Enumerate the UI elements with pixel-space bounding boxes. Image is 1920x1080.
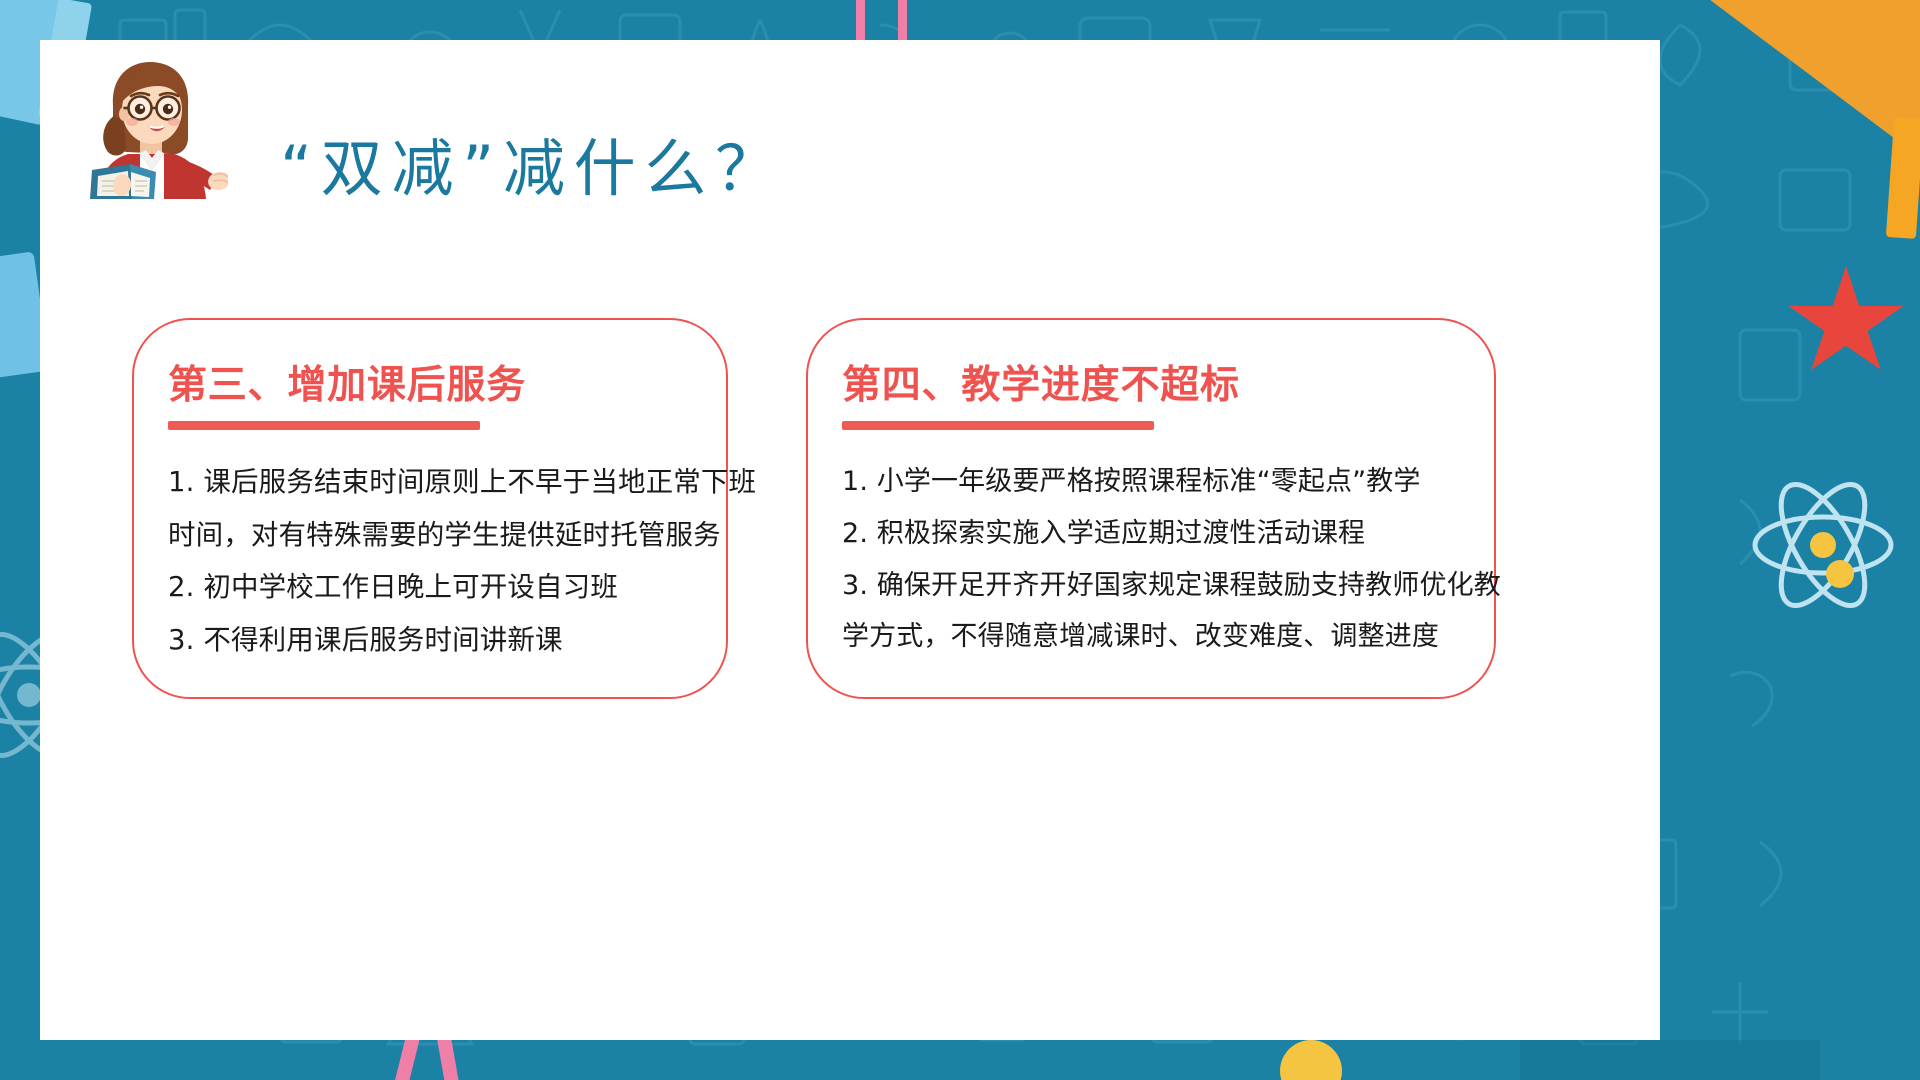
card-fourth-teaching-progress: 第四、教学进度不超标 1. 小学一年级要严格按照课程标准“零起点”教学 2. 积… [806,318,1496,699]
card-title: 第四、教学进度不超标 [842,364,1460,407]
atom-icon [1748,470,1898,620]
card-title: 第三、增加课后服务 [168,364,692,407]
card-line: 1. 小学一年级要严格按照课程标准“零起点”教学 [842,456,1460,508]
card-third-after-school-service: 第三、增加课后服务 1. 课后服务结束时间原则上不早于当地正常下班 时间，对有特… [132,318,728,699]
card-line: 3. 不得利用课后服务时间讲新课 [168,614,692,667]
card-body: 1. 课后服务结束时间原则上不早于当地正常下班 时间，对有特殊需要的学生提供延时… [168,456,692,667]
presentation-slide: “双减”减什么？ 第三、增加课后服务 1. 课后服务结束时间原则上不早于当地正常… [0,0,1920,1080]
card-line: 3. 确保开足开齐开好国家规定课程鼓励支持教师优化教 [842,560,1460,612]
yellow-circle-decoration [1280,1040,1342,1080]
card-line: 时间，对有特殊需要的学生提供延时托管服务 [168,509,692,562]
page-title: “双减”减什么？ [280,118,786,208]
card-title-underline [842,421,1154,430]
cards-container: 第三、增加课后服务 1. 课后服务结束时间原则上不早于当地正常下班 时间，对有特… [40,318,1660,699]
card-line: 2. 积极探索实施入学适应期过渡性活动课程 [842,508,1460,560]
slide-content-panel: “双减”减什么？ 第三、增加课后服务 1. 课后服务结束时间原则上不早于当地正常… [40,40,1660,1040]
card-line: 学方式，不得随意增减课时、改变难度、调整进度 [842,611,1460,663]
slide-header: “双减”减什么？ [40,40,1660,200]
teal-band-decoration [1520,1040,1820,1080]
card-line: 2. 初中学校工作日晚上可开设自习班 [168,561,692,614]
card-body: 1. 小学一年级要严格按照课程标准“零起点”教学 2. 积极探索实施入学适应期过… [842,456,1460,663]
card-title-underline [168,421,480,430]
orange-triangle-decoration [1671,0,1920,230]
orange-bar-decoration [1886,117,1920,239]
card-line: 1. 课后服务结束时间原则上不早于当地正常下班 [168,456,692,509]
teacher-with-book-illustration [78,54,228,199]
